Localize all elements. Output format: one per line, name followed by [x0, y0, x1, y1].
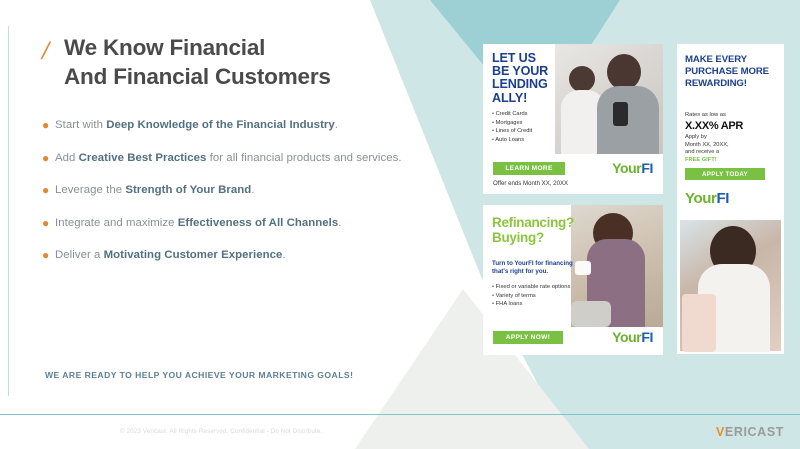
bullet-text: Leverage the Strength of Your Brand.	[55, 183, 255, 197]
vericast-logo: VERICAST	[716, 425, 784, 439]
ad-bullet-item: Fixed or variable rate options	[492, 283, 570, 292]
bullet-text: Add Creative Best Practices for all fina…	[55, 151, 402, 165]
rewards-fine-line-1: Apply by	[685, 134, 777, 142]
headline-line: ALLY!	[492, 92, 548, 105]
left-vertical-rule	[8, 26, 9, 396]
bullet-dot-icon: ●	[42, 118, 55, 132]
ad-bullet-item: Mortgages	[492, 119, 532, 128]
bullet-dot-icon: ●	[42, 216, 55, 230]
bullet-text: Start with Deep Knowledge of the Financi…	[55, 118, 338, 132]
list-item: ●Integrate and maximize Effectiveness of…	[42, 216, 472, 230]
yourfi-logo: YourFI	[612, 160, 653, 176]
apply-today-button[interactable]: APPLY TODAY	[685, 168, 765, 180]
copyright-footer: © 2023 Vericast. All Rights Reserved. Co…	[120, 428, 322, 435]
headline-line: LENDING	[492, 78, 548, 91]
bullet-text: Deliver a Motivating Customer Experience…	[55, 248, 286, 262]
footer-divider-rule	[0, 414, 800, 415]
marketing-goals-callout: WE ARE READY TO HELP YOU ACHIEVE YOUR MA…	[45, 370, 353, 380]
bullet-emphasis: Strength of Your Brand	[125, 184, 251, 196]
slide-canvas: / We Know Financial And Financial Custom…	[0, 0, 800, 449]
yourfi-logo-your: Your	[685, 190, 716, 207]
bullet-dot-icon: ●	[42, 248, 55, 262]
rewards-fine-print: Apply by Month XX, 20XX, and receive a F…	[685, 134, 777, 164]
list-item: ●Deliver a Motivating Customer Experienc…	[42, 248, 472, 262]
rewards-photo	[680, 220, 781, 351]
refinancing-photo	[571, 205, 663, 327]
ad-bullet-item: Auto Loans	[492, 136, 532, 145]
page-title: / We Know Financial And Financial Custom…	[42, 34, 462, 92]
ad-bullet-item: Variety of terms	[492, 292, 570, 301]
learn-more-button[interactable]: LEARN MORE	[493, 162, 565, 175]
rewards-fine-line-2: Month XX, 20XX,	[685, 142, 777, 150]
bullet-emphasis: Motivating Customer Experience	[104, 249, 283, 261]
ad-bullet-item: FHA loans	[492, 300, 570, 309]
headline-text: We Know Financial And Financial Customer…	[64, 34, 462, 92]
yourfi-logo: YourFI	[685, 190, 729, 207]
yourfi-logo: YourFI	[612, 329, 653, 345]
headline-line: Buying?	[492, 230, 574, 245]
bullet-emphasis: Effectiveness of All Channels	[178, 217, 339, 229]
lending-ally-offer-text: Offer ends Month XX, 20XX	[493, 180, 568, 187]
bullet-dot-icon: ●	[42, 183, 55, 197]
lending-ally-bullets: Credit CardsMortgagesLines of CreditAuto…	[492, 110, 532, 144]
bullet-list: ●Start with Deep Knowledge of the Financ…	[42, 118, 472, 281]
bullet-dot-icon: ●	[42, 151, 55, 165]
ad-card-lending-ally[interactable]: LET USBE YOURLENDINGALLY! Credit CardsMo…	[483, 44, 663, 194]
headline-line-1: We Know Financial	[64, 34, 462, 63]
lending-ally-photo	[555, 44, 663, 154]
list-item: ●Add Creative Best Practices for all fin…	[42, 151, 472, 165]
ad-bullet-item: Credit Cards	[492, 110, 532, 119]
yourfi-logo-fi: FI	[641, 329, 653, 345]
yourfi-logo-your: Your	[612, 160, 641, 176]
apply-now-button[interactable]: APPLY NOW!	[493, 331, 563, 344]
slash-accent-icon: /	[42, 38, 49, 64]
headline-line: Refinancing?	[492, 215, 574, 230]
rewards-apr-value: X.XX% APR	[685, 120, 743, 132]
ad-bullet-item: Lines of Credit	[492, 127, 532, 136]
refinancing-bullets: Fixed or variable rate optionsVariety of…	[492, 283, 570, 309]
rewards-fine-line-3: and receive a	[685, 149, 777, 157]
bullet-emphasis: Deep Knowledge of the Financial Industry	[106, 119, 335, 131]
yourfi-logo-fi: FI	[641, 160, 653, 176]
lending-ally-headline: LET USBE YOURLENDINGALLY!	[492, 52, 548, 105]
yourfi-logo-your: Your	[612, 329, 641, 345]
rewards-rate-lead: Rates as low as	[685, 112, 726, 118]
vericast-logo-text: ERICAST	[725, 425, 784, 439]
list-item: ●Leverage the Strength of Your Brand.	[42, 183, 472, 197]
bullet-text: Integrate and maximize Effectiveness of …	[55, 216, 341, 230]
vericast-logo-v: V	[716, 425, 725, 439]
rewards-free-gift-text: FREE GIFT!	[685, 157, 777, 165]
bullet-emphasis: Creative Best Practices	[79, 152, 207, 164]
rewards-headline: MAKE EVERY PURCHASE MORE REWARDING!	[685, 54, 780, 91]
headline-line-2: And Financial Customers	[64, 63, 462, 92]
yourfi-logo-fi: FI	[716, 190, 729, 207]
list-item: ●Start with Deep Knowledge of the Financ…	[42, 118, 472, 132]
refinancing-subhead: Turn to YourFI for financing that's righ…	[492, 260, 584, 277]
ad-card-refinancing[interactable]: Refinancing?Buying? Turn to YourFI for f…	[483, 205, 663, 355]
ad-card-rewards[interactable]: MAKE EVERY PURCHASE MORE REWARDING! Rate…	[677, 44, 784, 354]
refinancing-headline: Refinancing?Buying?	[492, 215, 574, 245]
